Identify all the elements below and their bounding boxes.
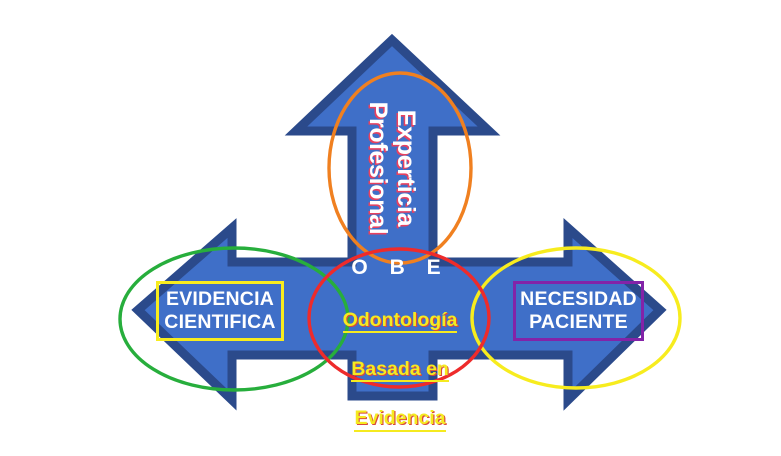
arrow-up-label: Experticia Profesional (364, 102, 420, 235)
arrow-left-label-box: EVIDENCIA CIENTIFICA (156, 281, 284, 341)
diagram-canvas: Experticia Profesional O B E Odontología… (0, 0, 781, 439)
arrow-right-label-box: NECESIDAD PACIENTE (513, 281, 644, 341)
